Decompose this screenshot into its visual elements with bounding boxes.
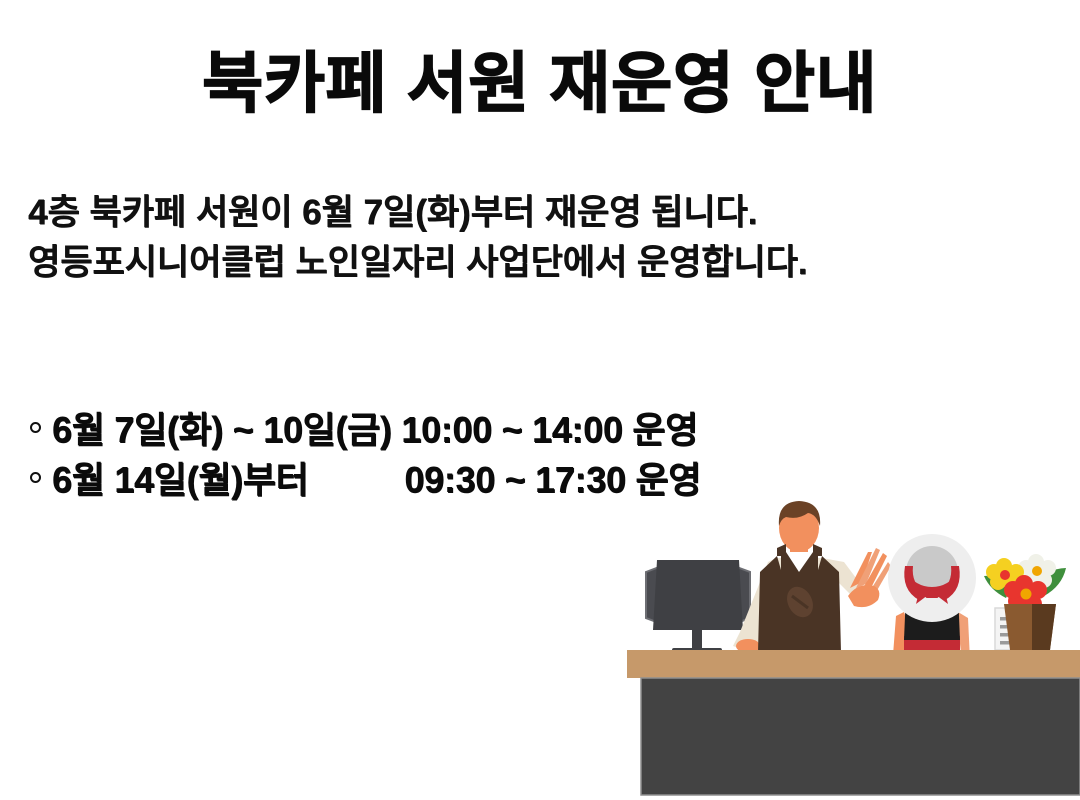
schedule-item-1-text: 6월 7일(화) ~ 10일(금) 10:00 ~ 14:00 운영 <box>52 409 698 450</box>
list-item: 6월 7일(화) ~ 10일(금) 10:00 ~ 14:00 운영 <box>30 402 1050 452</box>
schedule-list: 6월 7일(화) ~ 10일(금) 10:00 ~ 14:00 운영 6월 14… <box>30 402 1050 502</box>
schedule-item-2-hours: 09:30 ~ 17:30 운영 <box>404 459 701 500</box>
body-paragraph: 4층 북카페 서원이 6월 7일(화)부터 재운영 됩니다. 영등포시니어클럽 … <box>28 188 1048 288</box>
counter-body <box>641 678 1080 795</box>
schedule-item-1: 6월 7일(화) ~ 10일(금) 10:00 ~ 14:00 운영 <box>52 401 698 453</box>
schedule-item-2: 6월 14일(월)부터09:30 ~ 17:30 운영 <box>52 451 701 503</box>
page-title: 북카페 서원 재운영 안내 <box>0 46 1080 122</box>
customer-sun-hat <box>888 534 976 622</box>
bullet-circle-icon <box>30 472 41 483</box>
body-line-2: 영등포시니어클럽 노인일자리 사업단에서 운영합니다. <box>28 238 1048 288</box>
list-item: 6월 14일(월)부터09:30 ~ 17:30 운영 <box>30 452 1050 502</box>
service-counter <box>627 650 1080 795</box>
barista-figure <box>733 501 891 653</box>
body-line-1: 4층 북카페 서원이 6월 7일(화)부터 재운영 됩니다. <box>28 188 1048 238</box>
schedule-item-2-date: 6월 14일(월)부터 <box>52 459 308 500</box>
pos-monitor-icon <box>646 560 750 657</box>
cafe-counter-illustration <box>600 500 1080 800</box>
bullet-circle-icon <box>30 422 41 433</box>
poster-canvas: 북카페 서원 재운영 안내 4층 북카페 서원이 6월 7일(화)부터 재운영 … <box>0 0 1080 800</box>
counter-top <box>627 650 1080 678</box>
